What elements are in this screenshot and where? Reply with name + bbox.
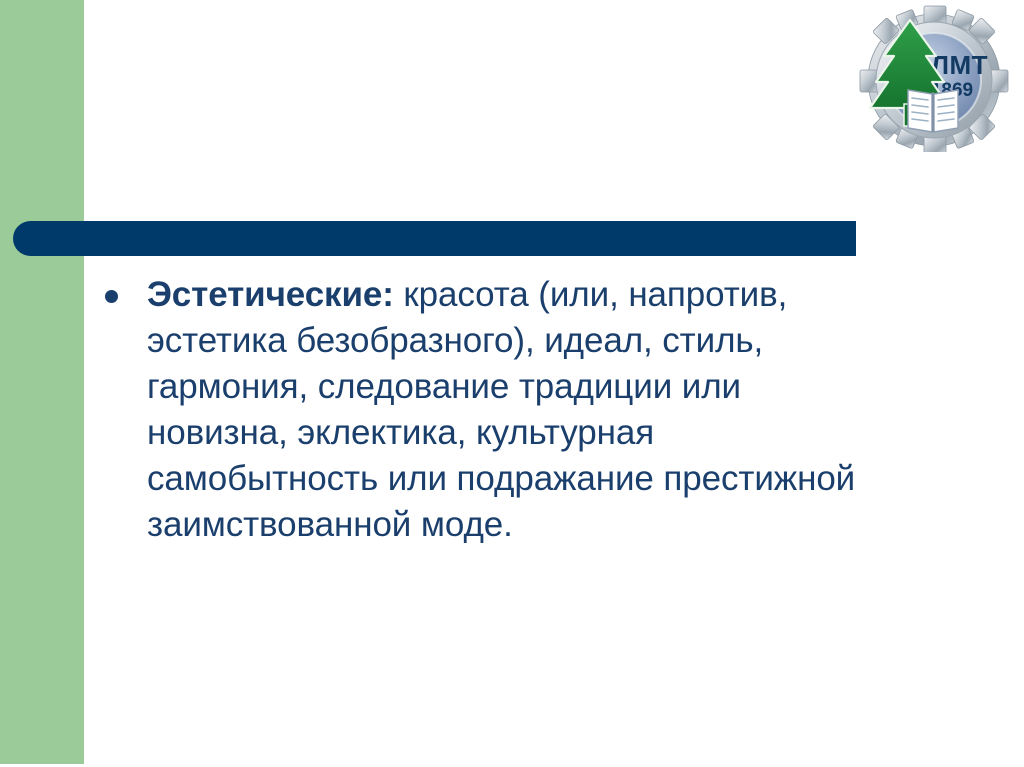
body-text-block: Эстетические: красота (или, напротив, эс… — [100, 272, 880, 548]
chlmt-logo: ЧЛМТ 1869 — [858, 4, 1010, 152]
bullet-paragraph: Эстетические: красота (или, напротив, эс… — [147, 272, 880, 548]
bullet-list-item: Эстетические: красота (или, напротив, эс… — [100, 272, 880, 548]
title-accent-bar — [13, 221, 856, 256]
bullet-body-text: красота (или, напротив, эстетика безобра… — [147, 275, 855, 544]
green-side-panel — [0, 0, 84, 764]
open-book-icon — [908, 90, 958, 132]
slide-canvas: Эстетические: красота (или, напротив, эс… — [0, 0, 1024, 767]
bullet-dot-icon — [105, 290, 118, 303]
bullet-lead-label: Эстетические: — [147, 275, 394, 314]
